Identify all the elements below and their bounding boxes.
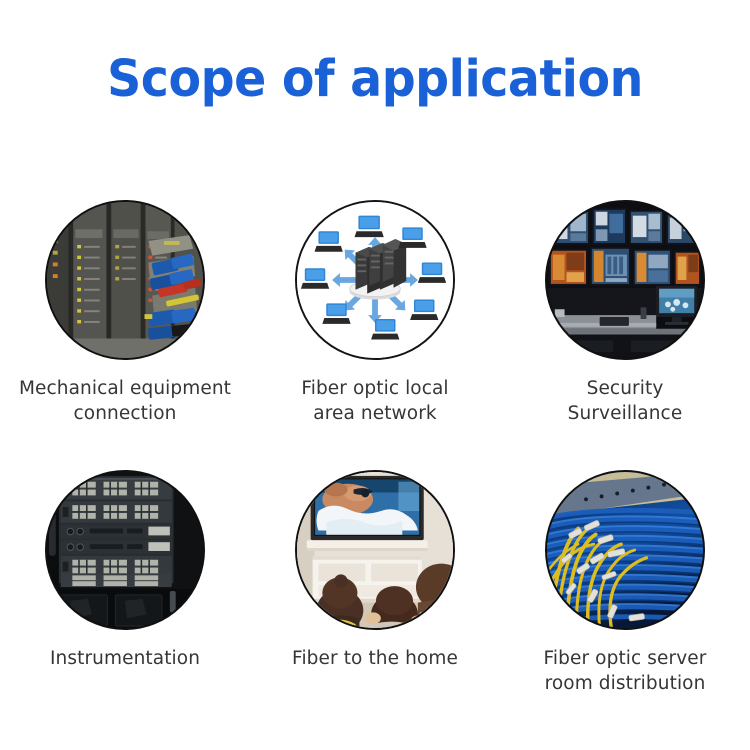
thumbnail-wrap bbox=[45, 200, 205, 360]
application-scope-grid: Mechanical equipment connection bbox=[0, 190, 750, 732]
chassis-switch-port-modules-photo[interactable] bbox=[45, 470, 205, 630]
scope-item-fiber-optic-local-area-network[interactable]: Fiber optic local area network bbox=[250, 190, 500, 460]
scope-item-mechanical-equipment-connection[interactable]: Mechanical equipment connection bbox=[0, 190, 250, 460]
scope-item-security-surveillance[interactable]: Security Surveillance bbox=[500, 190, 750, 460]
caption: Fiber optic server room distribution bbox=[509, 646, 741, 696]
caption: Fiber optic local area network bbox=[259, 376, 491, 426]
caption: Mechanical equipment connection bbox=[9, 376, 241, 426]
thumbnail-wrap bbox=[45, 470, 205, 630]
caption: Instrumentation bbox=[9, 646, 241, 671]
caption: Fiber to the home bbox=[259, 646, 491, 671]
caption-line-2: room distribution bbox=[509, 671, 741, 696]
thumbnail-wrap bbox=[295, 200, 455, 360]
page-title: Scope of application bbox=[26, 50, 724, 110]
rack-equipment-with-fiber-connectors-photo[interactable] bbox=[45, 200, 205, 360]
caption-line-2: connection bbox=[9, 401, 241, 426]
caption: Security Surveillance bbox=[509, 376, 741, 426]
caption-line-1: Mechanical equipment bbox=[19, 378, 231, 399]
caption-line-2: area network bbox=[259, 401, 491, 426]
scope-item-fiber-to-the-home[interactable]: Fiber to the home bbox=[250, 460, 500, 732]
scope-item-fiber-optic-server-room-distribution[interactable]: Fiber optic server room distribution bbox=[500, 460, 750, 732]
thumbnail-wrap bbox=[295, 470, 455, 630]
caption-line-1: Security bbox=[587, 378, 664, 399]
network-topology-servers-and-workstations-diagram[interactable] bbox=[295, 200, 455, 360]
thumbnail-wrap bbox=[545, 200, 705, 360]
family-watching-television-photo[interactable] bbox=[295, 470, 455, 630]
caption-line-1: Fiber optic server bbox=[544, 648, 707, 669]
scope-item-instrumentation[interactable]: Instrumentation bbox=[0, 460, 250, 732]
caption-line-2: Surveillance bbox=[509, 401, 741, 426]
caption-line-1: Fiber optic local bbox=[301, 378, 448, 399]
caption-line-1: Fiber to the home bbox=[292, 648, 458, 669]
thumbnail-wrap bbox=[545, 470, 705, 630]
blue-network-cables-yellow-fiber-patchcords-photo[interactable] bbox=[545, 470, 705, 630]
surveillance-control-room-video-wall-photo[interactable] bbox=[545, 200, 705, 360]
caption-line-1: Instrumentation bbox=[50, 648, 200, 669]
